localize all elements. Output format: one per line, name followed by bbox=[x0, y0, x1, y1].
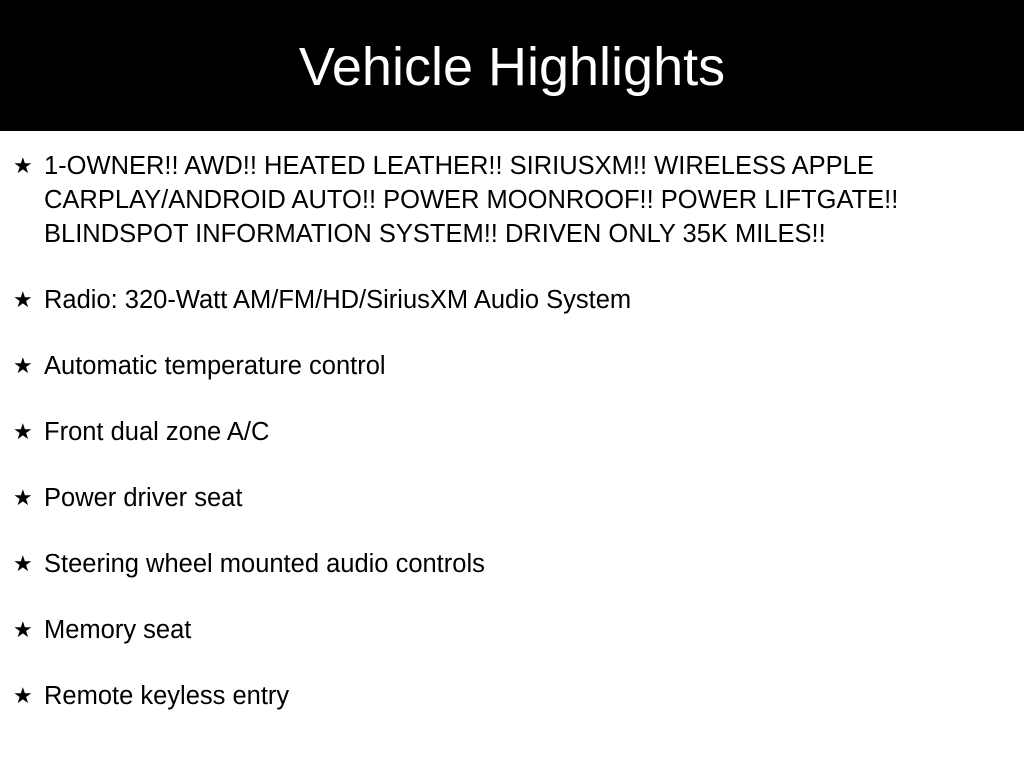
star-icon: ★ bbox=[13, 481, 33, 515]
list-item: ★ Steering wheel mounted audio controls bbox=[0, 547, 1024, 581]
header-banner: Vehicle Highlights bbox=[0, 0, 1024, 131]
star-icon: ★ bbox=[13, 415, 33, 449]
list-item: ★ Power driver seat bbox=[0, 481, 1024, 515]
highlight-text: Remote keyless entry bbox=[44, 679, 998, 713]
star-icon: ★ bbox=[13, 613, 33, 647]
highlight-text: Memory seat bbox=[44, 613, 998, 647]
highlight-text: Automatic temperature control bbox=[44, 349, 998, 383]
star-icon: ★ bbox=[13, 349, 33, 383]
star-icon: ★ bbox=[13, 283, 33, 317]
list-item: ★ Automatic temperature control bbox=[0, 349, 1024, 383]
list-item: ★ Radio: 320-Watt AM/FM/HD/SiriusXM Audi… bbox=[0, 283, 1024, 317]
list-item: ★ 1-OWNER!! AWD!! HEATED LEATHER!! SIRIU… bbox=[0, 149, 1024, 251]
star-icon: ★ bbox=[13, 149, 33, 183]
highlight-text: Steering wheel mounted audio controls bbox=[44, 547, 998, 581]
list-item: ★ Memory seat bbox=[0, 613, 1024, 647]
star-icon: ★ bbox=[13, 547, 33, 581]
highlight-text: Radio: 320-Watt AM/FM/HD/SiriusXM Audio … bbox=[44, 283, 998, 317]
page-title: Vehicle Highlights bbox=[299, 40, 725, 94]
highlight-text: Power driver seat bbox=[44, 481, 998, 515]
highlight-text: Front dual zone A/C bbox=[44, 415, 998, 449]
vehicle-highlights-page: Vehicle Highlights ★ 1-OWNER!! AWD!! HEA… bbox=[0, 0, 1024, 768]
star-icon: ★ bbox=[13, 679, 33, 713]
highlight-text: 1-OWNER!! AWD!! HEATED LEATHER!! SIRIUSX… bbox=[44, 149, 998, 251]
list-item: ★ Front dual zone A/C bbox=[0, 415, 1024, 449]
highlights-list: ★ 1-OWNER!! AWD!! HEATED LEATHER!! SIRIU… bbox=[0, 131, 1024, 745]
list-item: ★ Remote keyless entry bbox=[0, 679, 1024, 713]
